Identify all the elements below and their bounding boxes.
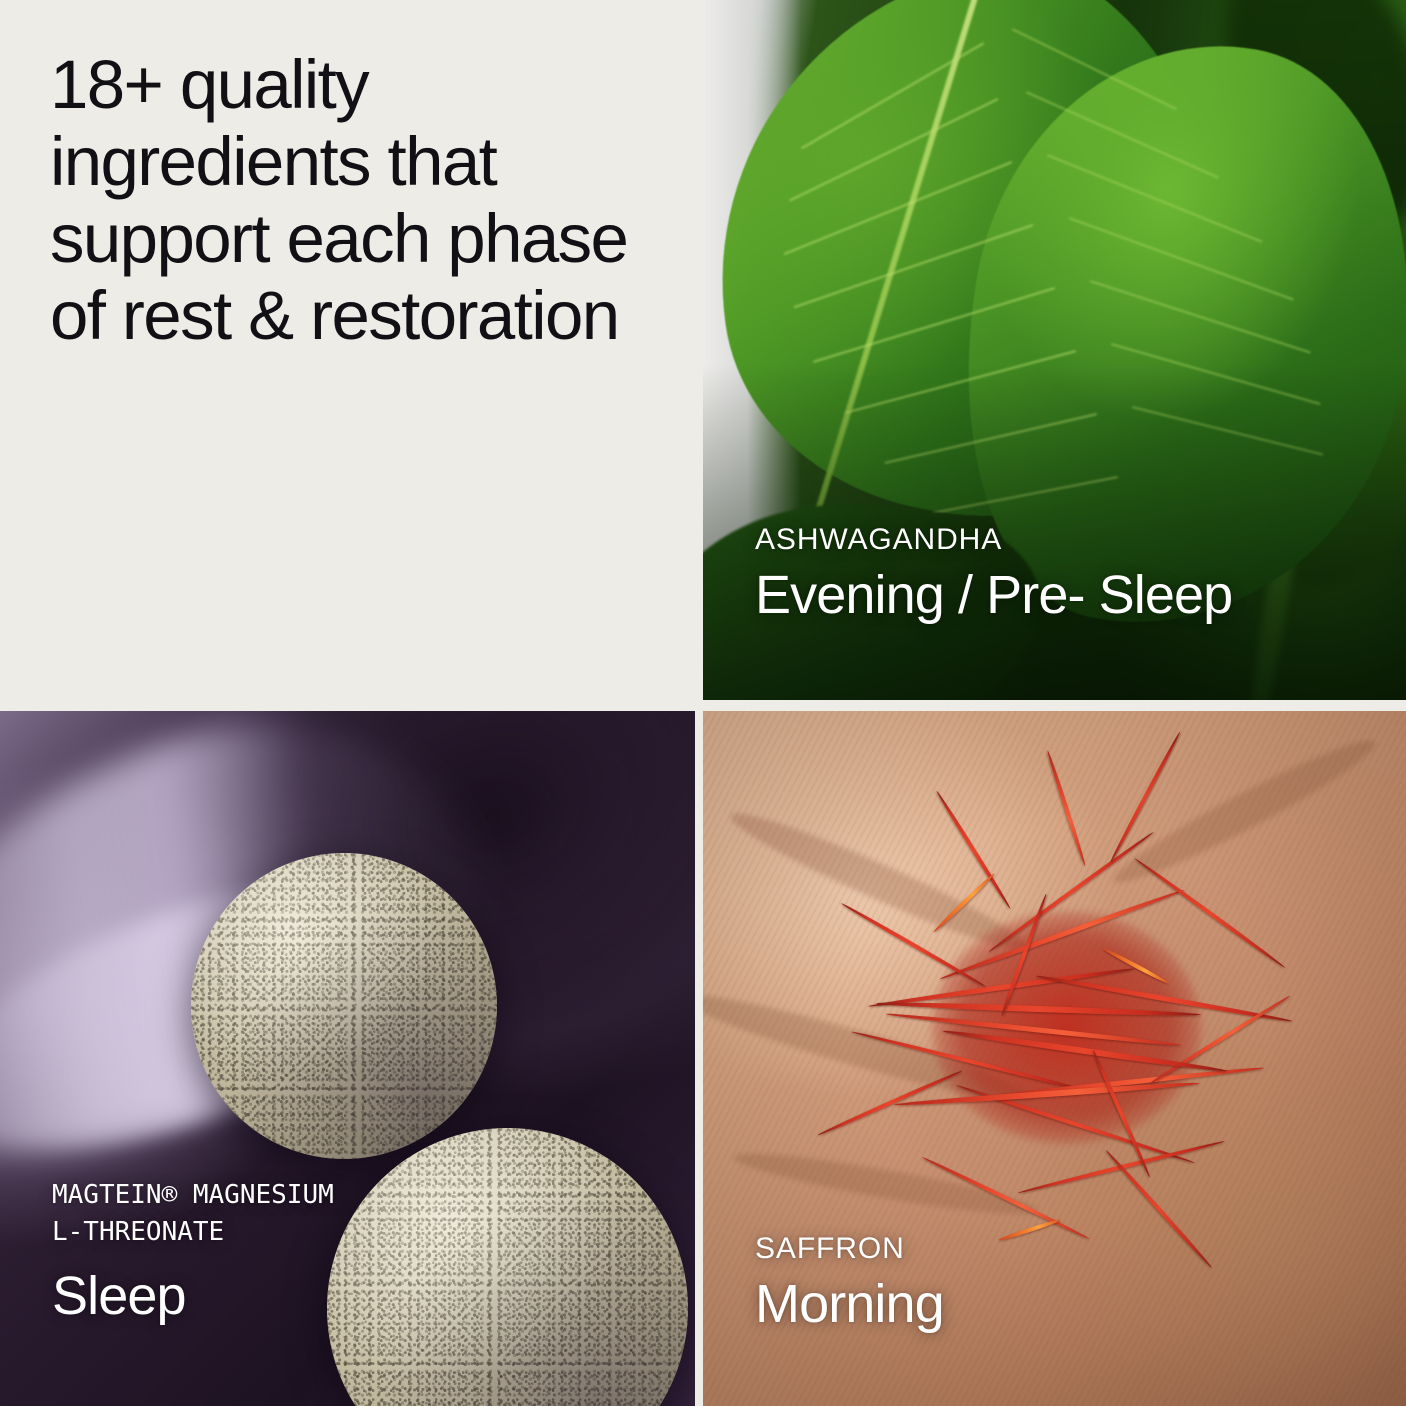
saffron-caption: SAFFRON Morning bbox=[755, 1229, 944, 1335]
headline-panel: 18+ quality ingredients that support eac… bbox=[0, 0, 695, 700]
ashwagandha-caption: ASHWAGANDHA Evening / Pre- Sleep bbox=[755, 520, 1232, 626]
magnesium-kicker-line-2: L-THREONATE bbox=[52, 1214, 334, 1251]
magnesium-title: Sleep bbox=[52, 1265, 334, 1327]
saffron-kicker: SAFFRON bbox=[755, 1229, 944, 1269]
saffron-panel[interactable]: SAFFRON Morning bbox=[703, 711, 1406, 1406]
ingredient-grid: 18+ quality ingredients that support eac… bbox=[0, 0, 1406, 1406]
magnesium-caption: MAGTEIN® MAGNESIUM L-THREONATE Sleep bbox=[52, 1177, 334, 1327]
page-title: 18+ quality ingredients that support eac… bbox=[50, 46, 650, 354]
saffron-title: Morning bbox=[755, 1273, 944, 1335]
magnesium-kicker-line-1: MAGTEIN® MAGNESIUM bbox=[52, 1177, 334, 1214]
ashwagandha-panel[interactable]: ASHWAGANDHA Evening / Pre- Sleep bbox=[703, 0, 1406, 700]
magnesium-panel[interactable]: MAGTEIN® MAGNESIUM L-THREONATE Sleep bbox=[0, 711, 695, 1406]
ashwagandha-kicker: ASHWAGANDHA bbox=[755, 520, 1232, 560]
magnesium-tablet-upper bbox=[191, 853, 497, 1159]
ashwagandha-title: Evening / Pre- Sleep bbox=[755, 564, 1232, 626]
